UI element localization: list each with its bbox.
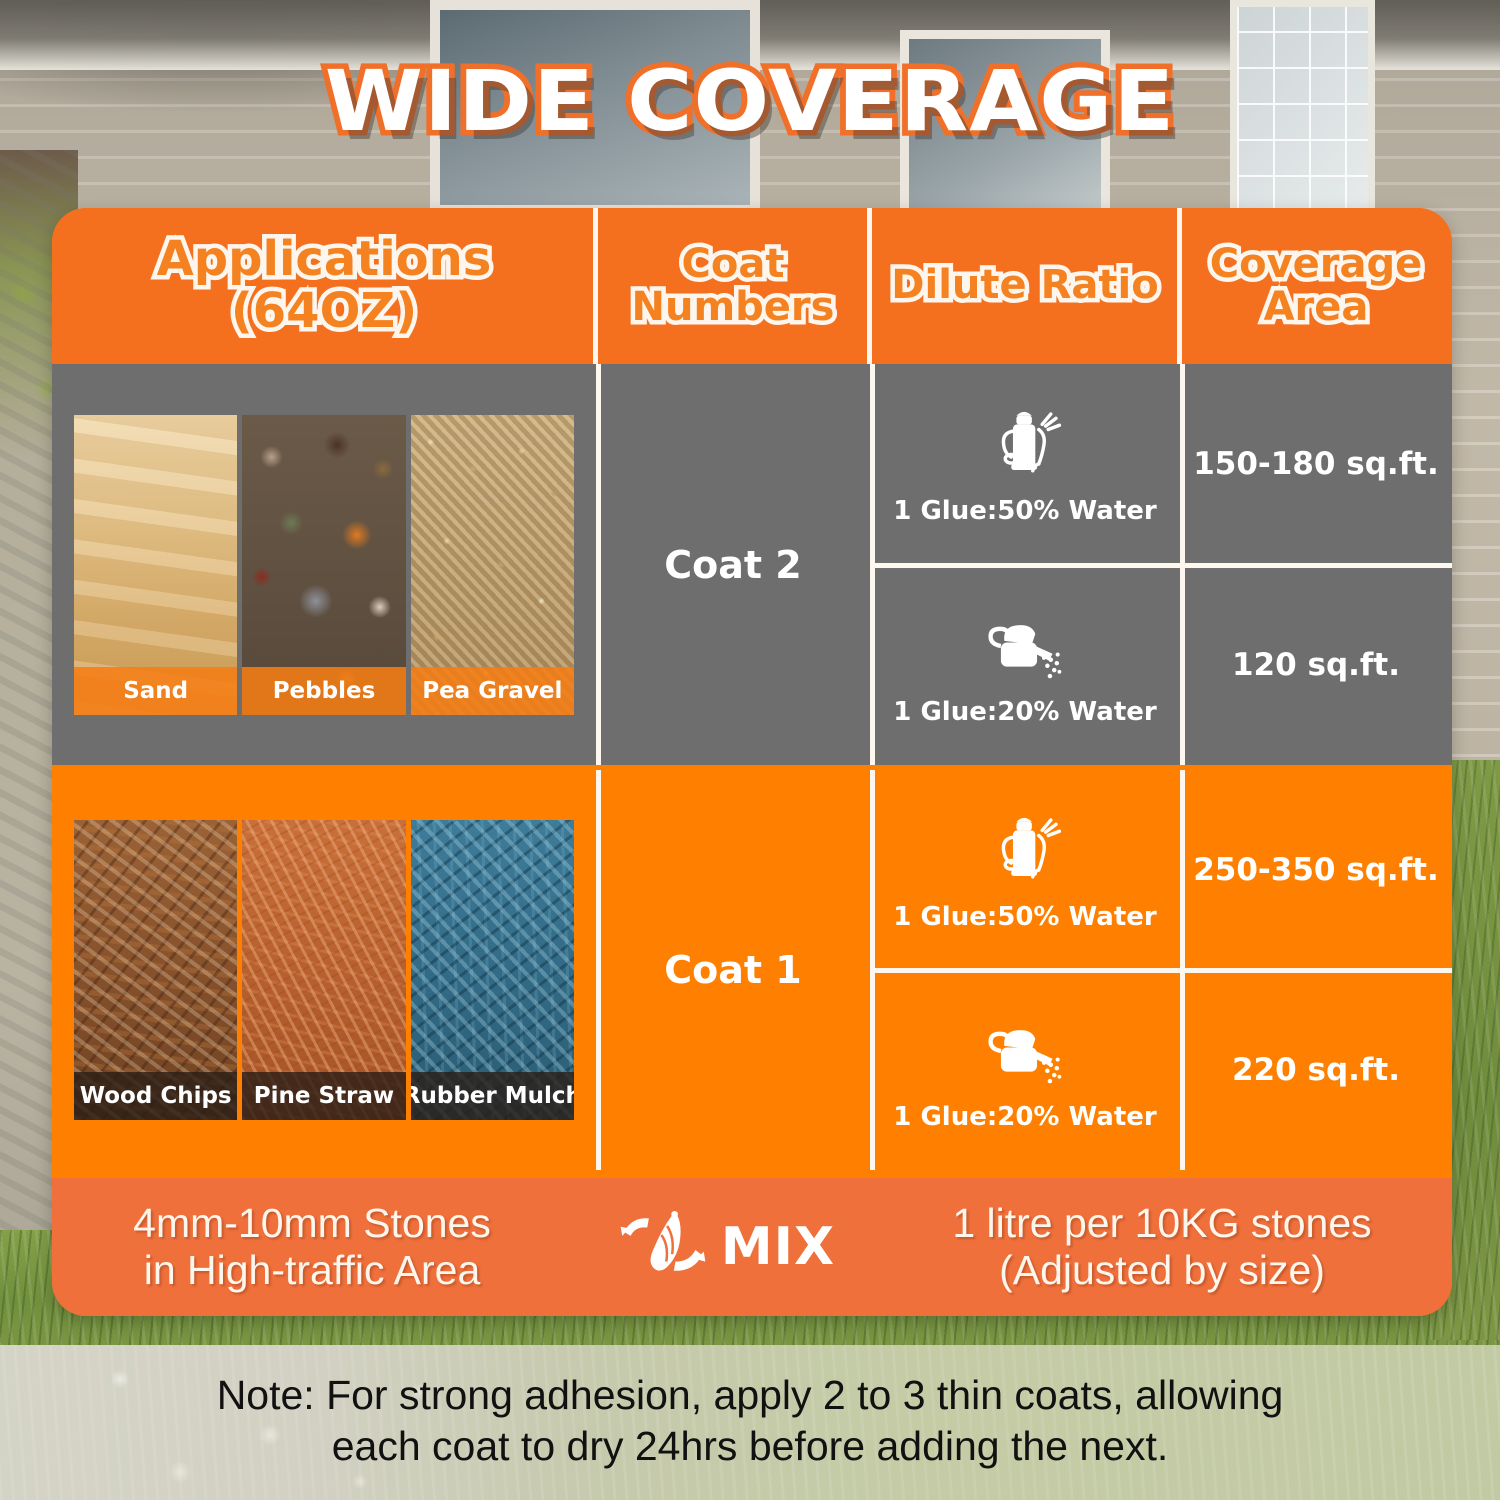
- header-coat-line1: Coat: [632, 243, 835, 286]
- pump-sprayer-icon: [982, 402, 1068, 488]
- cell-dilute-ratio: 1 Glue:50% Water: [870, 770, 1180, 970]
- coat-label: Coat 1: [664, 948, 801, 992]
- pump-sprayer-icon: [982, 808, 1068, 894]
- footer-band: 4mm-10mm Stones in High-traffic Area MIX…: [52, 1178, 1452, 1316]
- page-title: WIDE COVERAGE: [0, 52, 1500, 150]
- header-applications-label: Applications: [157, 234, 492, 286]
- cell-applications-coat2: Sand Pebbles Pea Gravel: [52, 364, 596, 765]
- header-dilute-ratio: Dilute Ratio: [870, 208, 1180, 364]
- variant-row: 1 Glue:50% Water 150-180 sq.ft.: [870, 364, 1452, 565]
- header-applications-size: (64OZ): [157, 286, 492, 338]
- cell-dilute-ratio: 1 Glue:20% Water: [870, 970, 1180, 1170]
- footer-left-line2: in High-traffic Area: [52, 1247, 572, 1294]
- cell-coat-number-coat2: Coat 2: [596, 364, 870, 765]
- material-tile: Pebbles: [242, 415, 405, 715]
- watering-can-icon: [982, 603, 1068, 689]
- cell-variants-coat1: 1 Glue:50% Water 250-350 sq.ft.: [870, 770, 1452, 1170]
- note-line1: Note: For strong adhesion, apply 2 to 3 …: [0, 1370, 1500, 1421]
- material-caption: Sand: [74, 667, 237, 715]
- material-caption: Wood Chips: [74, 1072, 237, 1120]
- header-coverage-area: Coverage Area: [1180, 208, 1452, 364]
- coverage-area-value: 150-180 sq.ft.: [1193, 446, 1439, 482]
- variant-row: 1 Glue:20% Water 220 sq.ft.: [870, 970, 1452, 1170]
- coat-label: Coat 2: [664, 543, 801, 587]
- dilute-ratio-text: 1 Glue:50% Water: [893, 496, 1156, 526]
- note-line2: each coat to dry 24hrs before adding the…: [0, 1421, 1500, 1472]
- coverage-area-value: 220 sq.ft.: [1232, 1052, 1400, 1088]
- cell-dilute-ratio: 1 Glue:20% Water: [870, 565, 1180, 766]
- footer-right-line1: 1 litre per 10KG stones: [872, 1200, 1452, 1247]
- cell-dilute-ratio: 1 Glue:50% Water: [870, 364, 1180, 565]
- header-coat-line2: Numbers: [632, 286, 835, 329]
- coverage-area-value: 120 sq.ft.: [1232, 647, 1400, 683]
- cell-coverage-area: 150-180 sq.ft.: [1180, 364, 1452, 565]
- footer-dosage-note: 1 litre per 10KG stones (Adjusted by siz…: [872, 1200, 1452, 1294]
- cell-coverage-area: 220 sq.ft.: [1180, 970, 1452, 1170]
- footer-left-line1: 4mm-10mm Stones: [52, 1200, 572, 1247]
- footer-stone-size-note: 4mm-10mm Stones in High-traffic Area: [52, 1200, 572, 1294]
- infographic-page: WIDE COVERAGE Applications (64OZ) Coat N…: [0, 0, 1500, 1500]
- material-caption: Pebbles: [242, 667, 405, 715]
- header-coat-numbers: Coat Numbers: [596, 208, 870, 364]
- table-row: Sand Pebbles Pea Gravel Coa: [52, 364, 1452, 765]
- variant-row: 1 Glue:50% Water 250-350 sq.ft.: [870, 770, 1452, 970]
- material-tile: Sand: [74, 415, 237, 715]
- table-body: Sand Pebbles Pea Gravel Coa: [52, 364, 1452, 1316]
- cell-coverage-area: 120 sq.ft.: [1180, 565, 1452, 766]
- material-tile: Pine Straw: [242, 820, 405, 1120]
- mix-whisk-icon: [609, 1202, 717, 1293]
- footer-right-line2: (Adjusted by size): [872, 1247, 1452, 1294]
- material-tile: Rubber Mulch: [411, 820, 574, 1120]
- table-header-row: Applications (64OZ) Coat Numbers Dilute …: [52, 208, 1452, 364]
- footer-mix-group: MIX: [572, 1202, 872, 1293]
- cell-variants-coat2: 1 Glue:50% Water 150-180 sq.ft.: [870, 364, 1452, 765]
- material-caption: Pine Straw: [242, 1072, 405, 1120]
- material-tile: Pea Gravel: [411, 415, 574, 715]
- cell-coverage-area: 250-350 sq.ft.: [1180, 770, 1452, 970]
- variant-row: 1 Glue:20% Water 120 sq.ft.: [870, 565, 1452, 766]
- material-tiles-coat2: Sand Pebbles Pea Gravel: [74, 415, 574, 715]
- coverage-area-value: 250-350 sq.ft.: [1193, 852, 1439, 888]
- mix-label: MIX: [721, 1217, 835, 1277]
- material-tiles-coat1: Wood Chips Pine Straw Rubber Mulch: [74, 820, 574, 1120]
- dilute-ratio-text: 1 Glue:20% Water: [893, 1102, 1156, 1132]
- material-tile: Wood Chips: [74, 820, 237, 1120]
- table-row: Wood Chips Pine Straw Rubber Mulch: [52, 770, 1452, 1170]
- cell-coat-number-coat1: Coat 1: [596, 770, 870, 1170]
- coverage-table: Applications (64OZ) Coat Numbers Dilute …: [52, 208, 1452, 1316]
- watering-can-icon: [982, 1008, 1068, 1094]
- dilute-ratio-text: 1 Glue:20% Water: [893, 697, 1156, 727]
- header-applications: Applications (64OZ): [52, 208, 596, 364]
- bottom-note: Note: For strong adhesion, apply 2 to 3 …: [0, 1370, 1500, 1473]
- material-caption: Pea Gravel: [411, 667, 574, 715]
- cell-applications-coat1: Wood Chips Pine Straw Rubber Mulch: [52, 770, 596, 1170]
- dilute-ratio-text: 1 Glue:50% Water: [893, 902, 1156, 932]
- material-caption: Rubber Mulch: [411, 1072, 574, 1120]
